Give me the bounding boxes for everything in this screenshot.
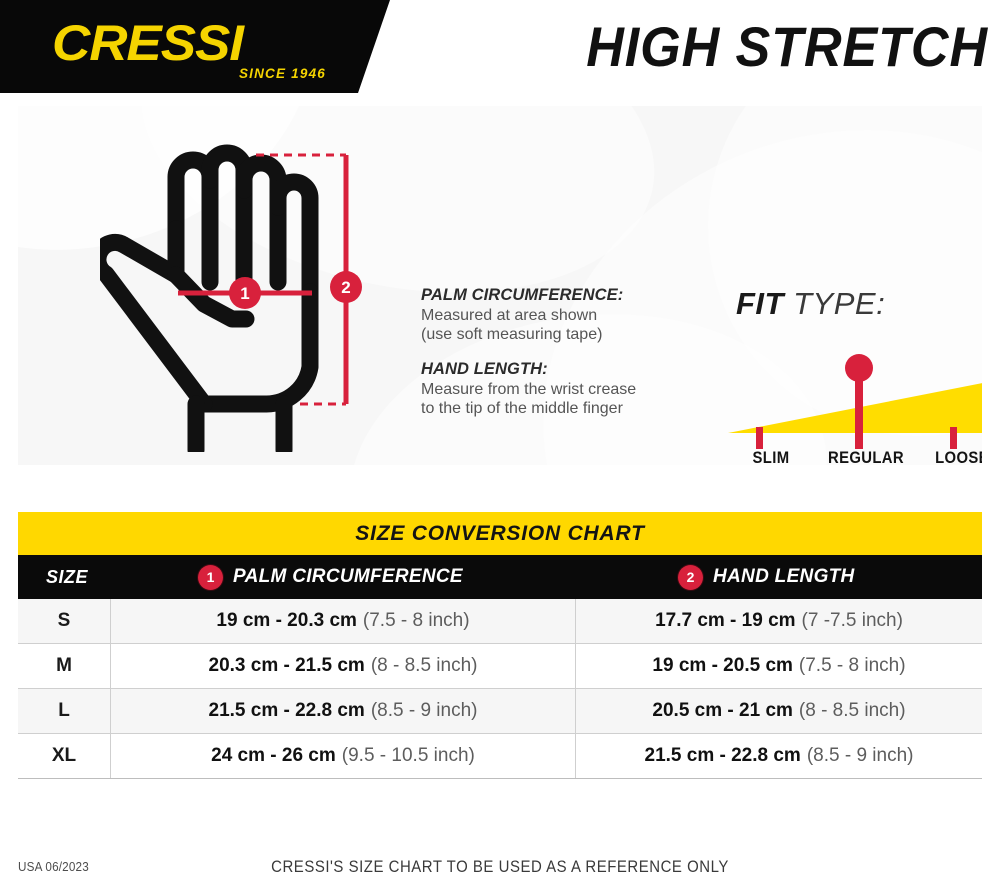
- column-header-length-label: HAND LENGTH: [713, 566, 855, 588]
- cell-palm-inch: (8.5 - 9 inch): [371, 700, 478, 722]
- cell-palm-inch: (8 - 8.5 inch): [371, 655, 478, 677]
- column-header-palm-label: PALM CIRCUMFERENCE: [233, 566, 463, 588]
- fit-label-loose[interactable]: LOOSE: [922, 449, 983, 465]
- cell-palm-circumference: 19 cm - 20.3 cm (7.5 - 8 inch): [111, 599, 576, 643]
- fit-tick-loose[interactable]: [950, 427, 957, 449]
- cell-hand-length: 19 cm - 20.5 cm (7.5 - 8 inch): [576, 644, 982, 688]
- cell-palm-circumference: 21.5 cm - 22.8 cm (8.5 - 9 inch): [111, 689, 576, 733]
- fit-type-scale-graphic: [718, 341, 982, 451]
- badge-1-icon: 1: [198, 565, 223, 590]
- measurement-diagram-panel: 1 2 PALM CIRCUMFERENCE: Measured at area…: [18, 106, 982, 465]
- hand-length-line-2: to the tip of the middle finger: [421, 399, 696, 418]
- table-row: L 21.5 cm - 22.8 cm (8.5 - 9 inch) 20.5 …: [18, 689, 982, 734]
- cell-length-inch: (8.5 - 9 inch): [807, 745, 914, 767]
- cell-size: XL: [18, 734, 111, 778]
- cell-length-cm: 17.7 cm - 19 cm: [655, 610, 795, 632]
- cell-hand-length: 21.5 cm - 22.8 cm (8.5 - 9 inch): [576, 734, 982, 778]
- cell-palm-cm: 24 cm - 26 cm: [211, 745, 336, 767]
- cell-size: M: [18, 644, 111, 688]
- table-title: SIZE CONVERSION CHART: [18, 512, 982, 555]
- cell-length-cm: 19 cm - 20.5 cm: [652, 655, 792, 677]
- brand-logo-text: CRESSI: [52, 18, 349, 68]
- cell-hand-length: 20.5 cm - 21 cm (8 - 8.5 inch): [576, 689, 982, 733]
- fit-pin-stem-regular[interactable]: [855, 376, 863, 449]
- fit-pin-head-regular[interactable]: [845, 354, 873, 382]
- fit-label-regular[interactable]: REGULAR: [809, 449, 922, 465]
- fit-label-slim[interactable]: SLIM: [731, 449, 812, 465]
- page-title: HIGH STRETCH: [586, 17, 988, 77]
- cell-length-inch: (7 -7.5 inch): [802, 610, 903, 632]
- badge-2-icon: 2: [678, 565, 703, 590]
- cell-palm-inch: (9.5 - 10.5 inch): [342, 745, 475, 767]
- palm-circumference-line-1: Measured at area shown: [421, 306, 696, 325]
- marker-2-number: 2: [341, 278, 350, 297]
- fit-type-title-light: TYPE:: [784, 286, 885, 321]
- cell-length-cm: 20.5 cm - 21 cm: [652, 700, 792, 722]
- cell-size: L: [18, 689, 111, 733]
- page-header: CRESSI SINCE 1946 HIGH STRETCH: [0, 0, 1000, 93]
- hand-illustration: 1 2: [100, 132, 380, 452]
- cell-palm-cm: 20.3 cm - 21.5 cm: [209, 655, 365, 677]
- cell-palm-cm: 19 cm - 20.3 cm: [216, 610, 356, 632]
- palm-circumference-line-2: (use soft measuring tape): [421, 325, 696, 344]
- hand-length-line-1: Measure from the wrist crease: [421, 380, 696, 399]
- cell-palm-circumference: 20.3 cm - 21.5 cm (8 - 8.5 inch): [111, 644, 576, 688]
- hand-outline-icon: [100, 153, 310, 450]
- marker-1-number: 1: [240, 284, 249, 303]
- fit-type-title-bold: FIT: [736, 286, 784, 321]
- cell-length-inch: (7.5 - 8 inch): [799, 655, 906, 677]
- cell-length-inch: (8 - 8.5 inch): [799, 700, 906, 722]
- page-footer: USA 06/2023 CRESSI'S SIZE CHART TO BE US…: [0, 855, 1000, 890]
- table-row: M 20.3 cm - 21.5 cm (8 - 8.5 inch) 19 cm…: [18, 644, 982, 689]
- footer-disclaimer: CRESSI'S SIZE CHART TO BE USED AS A REFE…: [60, 857, 940, 877]
- cell-size: S: [18, 599, 111, 643]
- palm-circumference-heading: PALM CIRCUMFERENCE:: [421, 286, 696, 305]
- brand-logo: CRESSI SINCE 1946: [52, 18, 332, 80]
- column-header-size: SIZE: [46, 555, 88, 599]
- fit-type-block: FIT TYPE: SLIM REGULAR LOOSE: [718, 286, 982, 456]
- column-header-hand-length: 2 HAND LENGTH: [678, 555, 855, 599]
- instructions-spacer: [421, 344, 696, 360]
- table-row: XL 24 cm - 26 cm (9.5 - 10.5 inch) 21.5 …: [18, 734, 982, 779]
- brand-tagline: SINCE 1946: [239, 66, 326, 81]
- column-header-palm-circumference: 1 PALM CIRCUMFERENCE: [198, 555, 463, 599]
- cell-palm-cm: 21.5 cm - 22.8 cm: [209, 700, 365, 722]
- cell-palm-circumference: 24 cm - 26 cm (9.5 - 10.5 inch): [111, 734, 576, 778]
- measurement-instructions: PALM CIRCUMFERENCE: Measured at area sho…: [421, 286, 696, 418]
- table-row: S 19 cm - 20.3 cm (7.5 - 8 inch) 17.7 cm…: [18, 599, 982, 644]
- hand-length-heading: HAND LENGTH:: [421, 360, 696, 379]
- size-conversion-table: SIZE CONVERSION CHART SIZE 1 PALM CIRCUM…: [18, 512, 982, 779]
- cell-palm-inch: (7.5 - 8 inch): [363, 610, 470, 632]
- cell-hand-length: 17.7 cm - 19 cm (7 -7.5 inch): [576, 599, 982, 643]
- cell-length-cm: 21.5 cm - 22.8 cm: [645, 745, 801, 767]
- fit-type-title: FIT TYPE:: [736, 286, 885, 322]
- fit-tick-slim[interactable]: [756, 427, 763, 449]
- table-header-row: SIZE 1 PALM CIRCUMFERENCE 2 HAND LENGTH: [18, 555, 982, 599]
